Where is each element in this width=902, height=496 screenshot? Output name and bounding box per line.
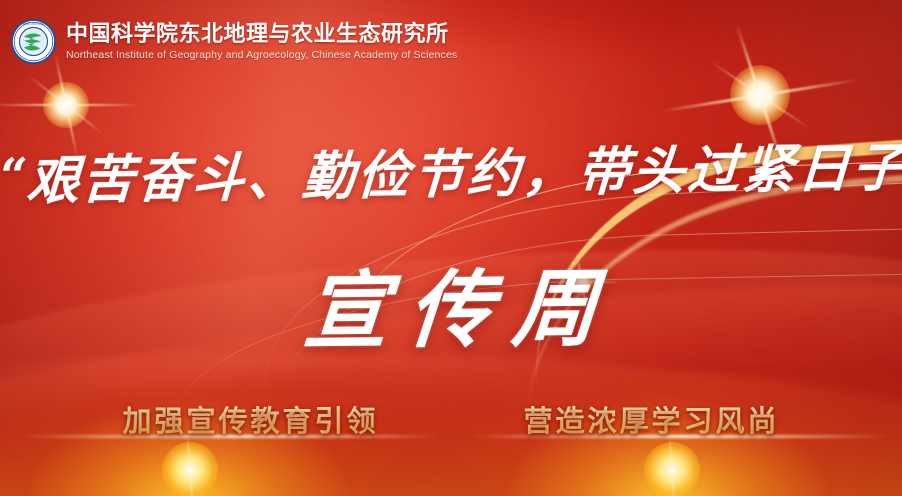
institute-emblem-logo: 东北地理与农业生态研究所 <box>10 18 57 65</box>
quote-open-mark: “ <box>0 148 29 204</box>
promo-poster: 东北地理与农业生态研究所 中国科学院东北地理与农业生态研究所 Northeast… <box>0 0 902 496</box>
big-word-row: 宣传周 <box>0 243 902 364</box>
institute-branding-header: 东北地理与农业生态研究所 中国科学院东北地理与农业生态研究所 Northeast… <box>10 18 457 65</box>
institute-name-block: 中国科学院东北地理与农业生态研究所 Northeast Institute of… <box>66 23 457 61</box>
slogan-row: 加强宣传教育引领 营造浓厚学习风尚 <box>0 398 902 440</box>
headline-text: 艰苦奋斗、勤俭节约，带头过紧日子 <box>25 137 902 212</box>
big-word-text: 宣传周 <box>280 241 622 365</box>
slogan-left: 加强宣传教育引领 <box>122 398 378 440</box>
headline-group: “艰苦奋斗、勤俭节约，带头过紧日子” <box>0 125 902 215</box>
slogan-right: 营造浓厚学习风尚 <box>523 398 779 440</box>
headline-row: “艰苦奋斗、勤俭节约，带头过紧日子” <box>0 132 902 207</box>
institute-name-en: Northeast Institute of Geography and Agr… <box>66 50 457 61</box>
institute-name-cn: 中国科学院东北地理与农业生态研究所 <box>66 23 457 45</box>
